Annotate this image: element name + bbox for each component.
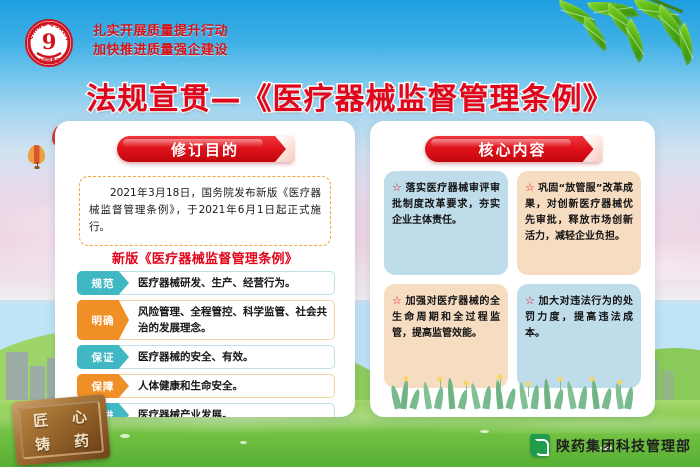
list-item: 规范 医疗器械研发、生产、经营行为。 bbox=[77, 271, 335, 295]
panel-core-content: 核心内容 ☆落实医疗器械审评审批制度改革要求，夯实企业主体责任。 ☆巩固“放管服… bbox=[370, 121, 655, 417]
list-item: 明确 风险管理、全程管控、科学监管、社会共治的发展理念。 bbox=[77, 300, 335, 340]
seal-char: 心 bbox=[71, 405, 88, 427]
card-text: 加大对违法行为的处罚力度，提高违法成本。 bbox=[525, 296, 633, 339]
header-slogan: 扎实开展质量提升行动 加快推进质量强企建设 bbox=[93, 22, 353, 60]
decorative-seal-stamp: 匠 心 铸 药 bbox=[11, 394, 110, 466]
banner-revision-purpose: 修订目的 bbox=[117, 136, 293, 162]
item-text: 医疗器械研发、生产、经营行为。 bbox=[128, 272, 334, 294]
tag-slot: 规范 bbox=[78, 272, 128, 294]
ground-fleck bbox=[120, 434, 130, 438]
svg-text:9: 9 bbox=[42, 29, 57, 54]
banner-label: 核心内容 bbox=[478, 139, 546, 160]
list-item: 保证 医疗器械的安全、有效。 bbox=[77, 345, 335, 369]
ribbon-fold-icon bbox=[583, 136, 603, 162]
regulation-subtitle: 新版《医疗器械监督管理条例》 bbox=[55, 248, 355, 267]
content-card: ☆巩固“放管服”改革成果，对创新医疗器械优先审批，释放市场创新活力，减轻企业负担… bbox=[517, 171, 641, 275]
card-text: 落实医疗器械审评审批制度改革要求，夯实企业主体责任。 bbox=[392, 183, 500, 226]
item-tag: 明确 bbox=[77, 300, 129, 340]
tag-slot: 明确 bbox=[78, 301, 128, 339]
tag-slot: 保证 bbox=[78, 346, 128, 368]
footer-brand: 陕药集团科技管理部 bbox=[530, 434, 691, 457]
ground-fleck bbox=[240, 441, 247, 444]
building-icon bbox=[6, 352, 28, 400]
item-text: 风险管理、全程管控、科学监管、社会共治的发展理念。 bbox=[128, 301, 334, 339]
card-text: 加强对医疗器械的全生命周期和全过程监管，提高监管效能。 bbox=[392, 296, 500, 339]
building-icon bbox=[30, 366, 45, 400]
svg-text:中国质量月: 中国质量月 bbox=[38, 57, 60, 64]
core-content-cards: ☆落实医疗器械审评审批制度改革要求，夯实企业主体责任。 ☆巩固“放管服”改革成果… bbox=[384, 171, 642, 388]
grass-decoration bbox=[388, 375, 638, 409]
star-icon: ☆ bbox=[525, 294, 535, 307]
panel-revision-purpose: 修订目的 2021年3月18日，国务院发布新版《医疗器械监督管理条例》，于202… bbox=[55, 121, 355, 417]
seal-inner: 匠 心 铸 药 bbox=[18, 401, 104, 460]
seal-char: 铸 bbox=[34, 433, 51, 455]
china-quality-month-logo: CHINA QUALITY MONTH 9 中国质量月 bbox=[18, 18, 80, 68]
item-text: 人体健康和生命安全。 bbox=[128, 375, 334, 397]
building-icon bbox=[662, 370, 674, 400]
card-text: 巩固“放管服”改革成果，对创新医疗器械优先审批，释放市场创新活力，减轻企业负担。 bbox=[525, 183, 633, 242]
tag-slot: 保障 bbox=[78, 375, 128, 397]
list-item: 保障 人体健康和生命安全。 bbox=[77, 374, 335, 398]
content-card: ☆加大对违法行为的处罚力度，提高违法成本。 bbox=[517, 284, 641, 388]
content-card: ☆落实医疗器械审评审批制度改革要求，夯实企业主体责任。 bbox=[384, 171, 508, 275]
star-icon: ☆ bbox=[392, 294, 402, 307]
slogan-line-2: 加快推进质量强企建设 bbox=[93, 41, 353, 60]
purpose-list: 规范 医疗器械研发、生产、经营行为。 明确 风险管理、全程管控、科学监管、社会共… bbox=[77, 271, 335, 417]
item-text: 医疗器械产业发展。 bbox=[128, 404, 334, 417]
item-tag: 规范 bbox=[77, 271, 129, 295]
ground-fleck bbox=[480, 430, 489, 433]
item-tag: 保证 bbox=[77, 345, 129, 369]
hot-air-balloon-icon bbox=[28, 145, 45, 169]
star-icon: ☆ bbox=[525, 181, 535, 194]
content-card: ☆加强对医疗器械的全生命周期和全过程监管，提高监管效能。 bbox=[384, 284, 508, 388]
shaanxi-pharma-logo-icon bbox=[530, 434, 550, 457]
ribbon-fold-icon bbox=[275, 136, 295, 162]
page-title: 法规宣贯—《医疗器械监督管理条例》 bbox=[0, 74, 700, 118]
list-item: 促进 医疗器械产业发展。 bbox=[77, 403, 335, 417]
revision-note: 2021年3月18日，国务院发布新版《医疗器械监督管理条例》，于2021年6月1… bbox=[79, 176, 331, 246]
poster-canvas: CHINA QUALITY MONTH 9 中国质量月 扎实开展质量提升行动 加… bbox=[0, 0, 700, 467]
banner-label: 修订目的 bbox=[171, 139, 239, 160]
star-icon: ☆ bbox=[392, 181, 402, 194]
seal-char: 匠 bbox=[32, 409, 49, 431]
banner-core-content: 核心内容 bbox=[425, 136, 601, 162]
seal-char: 药 bbox=[73, 429, 90, 451]
brand-name: 陕药集团科技管理部 bbox=[556, 436, 691, 456]
slogan-line-1: 扎实开展质量提升行动 bbox=[93, 22, 353, 41]
item-text: 医疗器械的安全、有效。 bbox=[128, 346, 334, 368]
